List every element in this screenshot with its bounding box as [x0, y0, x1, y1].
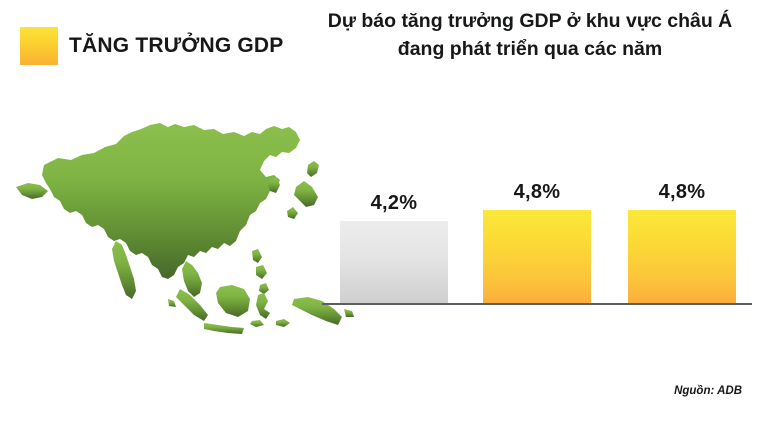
map-landmass-shapes: [16, 123, 354, 334]
legend: TĂNG TRƯỞNG GDP: [20, 27, 284, 65]
title-line-1: Dự báo tăng trưởng GDP ở khu vực châu Á: [300, 8, 760, 36]
gdp-growth-bar-chart: 4,2% 2022 4,8% 2023 4,8% 2024: [322, 180, 752, 330]
bar-2023[interactable]: [483, 210, 591, 303]
bar-value-2024: 4,8%: [628, 181, 736, 204]
yellow-square-swatch-icon: [20, 27, 58, 65]
bar-value-2023: 4,8%: [483, 181, 591, 204]
bar-2024[interactable]: [628, 210, 736, 303]
chart-baseline-axis: [322, 303, 752, 305]
infographic-canvas: TĂNG TRƯỞNG GDP Dự báo tăng trưởng GDP ở…: [0, 0, 770, 433]
source-note: Nguồn: ADB: [674, 385, 742, 397]
title-line-2: đang phát triển qua các năm: [300, 36, 760, 64]
bar-value-2022: 4,2%: [340, 192, 448, 215]
bar-2022[interactable]: [340, 221, 448, 303]
page-title: Dự báo tăng trưởng GDP ở khu vực châu Á …: [300, 8, 760, 63]
asia-map: [8, 103, 354, 353]
legend-label: TĂNG TRƯỞNG GDP: [69, 34, 284, 58]
